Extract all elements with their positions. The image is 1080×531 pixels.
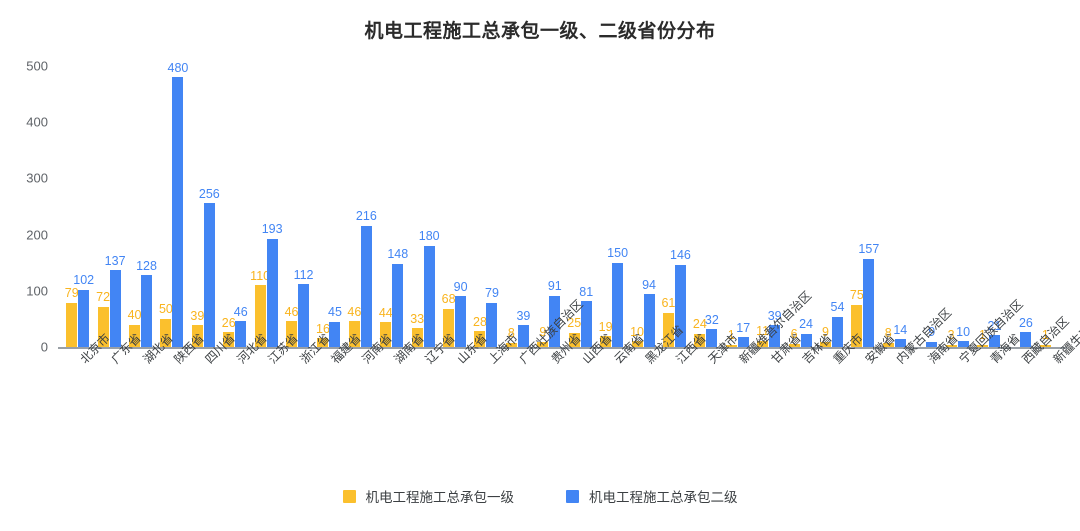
bar-value-label: 54: [831, 301, 845, 314]
bar[interactable]: 9: [820, 60, 831, 347]
bar-group: 1: [1036, 60, 1067, 347]
bar[interactable]: 79: [66, 60, 77, 347]
bar-value-label: 90: [454, 281, 468, 294]
bar[interactable]: 3: [946, 60, 957, 347]
bar[interactable]: 157: [863, 60, 874, 347]
bar-value-label: 46: [285, 306, 299, 319]
x-axis-slot: 海南省: [910, 349, 941, 479]
bar-rect: [424, 246, 435, 347]
bar-value-label: 10: [956, 326, 970, 339]
bar-value-label: 91: [548, 280, 562, 293]
bar-rect: [172, 77, 183, 347]
bar[interactable]: 50: [160, 60, 171, 347]
bar-group: 40128: [125, 60, 156, 347]
bar[interactable]: 256: [204, 60, 215, 347]
bar[interactable]: 180: [424, 60, 435, 347]
y-axis-tick-100: 100: [26, 283, 48, 298]
bar-rect: [361, 226, 372, 347]
y-axis-tick-500: 500: [26, 59, 48, 74]
x-axis-slot: 新疆生产建设兵团: [1036, 349, 1067, 479]
x-axis-slot: 河南省: [345, 349, 376, 479]
bar-value-label: 28: [473, 316, 487, 329]
bar[interactable]: 94: [644, 60, 655, 347]
bar-value-label: 480: [167, 62, 188, 75]
x-axis-slot: 天津市: [690, 349, 721, 479]
bar-value-label: 128: [136, 260, 157, 273]
bar[interactable]: 90: [455, 60, 466, 347]
bar-rect: [141, 275, 152, 347]
bar-value-label: 45: [328, 306, 342, 319]
bar-group: 2432: [690, 60, 721, 347]
bar-rect: [863, 259, 874, 347]
legend-item-series2[interactable]: 机电工程施工总承包二级: [566, 486, 738, 506]
bar[interactable]: 46: [349, 60, 360, 347]
bar-value-label: 33: [410, 313, 424, 326]
bar-group: 79102: [62, 60, 93, 347]
bar[interactable]: 39: [518, 60, 529, 347]
x-axis-slot: 广西壮族自治区: [502, 349, 533, 479]
bar-group: 9: [910, 60, 941, 347]
bar-value-label: 180: [419, 230, 440, 243]
bar-group: 6890: [439, 60, 470, 347]
bar[interactable]: 1: [726, 60, 737, 347]
bar[interactable]: 33: [412, 60, 423, 347]
x-axis-slot: 上海市: [470, 349, 501, 479]
x-axis-slot: 辽宁省: [407, 349, 438, 479]
bar-group: 46216: [345, 60, 376, 347]
x-axis-slot: 宁夏回族自治区: [941, 349, 972, 479]
bar-group: 1645: [313, 60, 344, 347]
bar[interactable]: 46: [235, 60, 246, 347]
bar-group: 814: [879, 60, 910, 347]
bar-rect: [267, 239, 278, 347]
bar[interactable]: 39: [192, 60, 203, 347]
bar[interactable]: 46: [286, 60, 297, 347]
bar[interactable]: 16: [317, 60, 328, 347]
bar[interactable]: 91: [549, 60, 560, 347]
chart-legend: 机电工程施工总承包一级 机电工程施工总承包二级: [0, 486, 1080, 506]
bar-value-label: 150: [607, 247, 628, 260]
bar-value-label: 72: [96, 291, 110, 304]
bar-group: 121: [973, 60, 1004, 347]
bar[interactable]: 32: [706, 60, 717, 347]
x-axis-slot: 北京市: [62, 349, 93, 479]
bar-group: 72137: [93, 60, 124, 347]
bar-value-label: 256: [199, 188, 220, 201]
bar-value-label: 81: [579, 286, 593, 299]
bar[interactable]: 79: [486, 60, 497, 347]
x-axis-slot: 甘肃省: [753, 349, 784, 479]
bar[interactable]: 137: [110, 60, 121, 347]
x-axis-slot: 吉林省: [784, 349, 815, 479]
bar-group: 2646: [219, 60, 250, 347]
y-axis-tick-200: 200: [26, 227, 48, 242]
x-axis-slot: 四川省: [188, 349, 219, 479]
legend-swatch-series2: [566, 490, 579, 503]
x-axis-slot: 重庆市: [816, 349, 847, 479]
y-axis-tick-400: 400: [26, 115, 48, 130]
bar-group: 19150: [596, 60, 627, 347]
bar-chart: 机电工程施工总承包一级、二级省份分布 0100200300400500 7910…: [0, 0, 1080, 531]
bar-group: 50480: [156, 60, 187, 347]
bar-group: 110193: [250, 60, 281, 347]
bar[interactable]: 72: [98, 60, 109, 347]
bar[interactable]: 17: [738, 60, 749, 347]
bar-group: 1139: [753, 60, 784, 347]
x-axis-slot: 内蒙古自治区: [879, 349, 910, 479]
bar[interactable]: 1: [977, 60, 988, 347]
bar[interactable]: 26: [223, 60, 234, 347]
bar-group: 991: [533, 60, 564, 347]
legend-item-series1[interactable]: 机电工程施工总承包一级: [343, 486, 515, 506]
legend-label-series2: 机电工程施工总承包二级: [589, 486, 738, 506]
y-axis-tick-300: 300: [26, 171, 48, 186]
bar-value-label: 102: [73, 274, 94, 287]
bar-value-label: 75: [850, 289, 864, 302]
y-axis: 0100200300400500: [0, 60, 56, 352]
x-axis-slot: 江苏省: [250, 349, 281, 479]
bar[interactable]: 128: [141, 60, 152, 347]
bar[interactable]: 28: [474, 60, 485, 347]
bar-value-label: 68: [442, 293, 456, 306]
bar[interactable]: 44: [380, 60, 391, 347]
x-axis-slot: 新疆维吾尔自治区: [722, 349, 753, 479]
bar-rect: [204, 203, 215, 347]
x-axis-slot: 山西省: [565, 349, 596, 479]
bar-group: 2879: [470, 60, 501, 347]
bar-group: 46112: [282, 60, 313, 347]
bar-value-label: 216: [356, 210, 377, 223]
bar[interactable]: 8: [883, 60, 894, 347]
bar-group: 61146: [659, 60, 690, 347]
x-axis-slot: 广东省: [93, 349, 124, 479]
x-axis-slot: 河北省: [219, 349, 250, 479]
bar[interactable]: 24: [694, 60, 705, 347]
bar-value-label: 46: [234, 306, 248, 319]
bar[interactable]: 193: [267, 60, 278, 347]
bar-value-label: 193: [262, 223, 283, 236]
bar[interactable]: 112: [298, 60, 309, 347]
x-axis-slot: 福建省: [313, 349, 344, 479]
bar[interactable]: 216: [361, 60, 372, 347]
bar-value-label: 26: [222, 317, 236, 330]
bar[interactable]: 148: [392, 60, 403, 347]
bar[interactable]: 54: [832, 60, 843, 347]
bar-rect: [298, 284, 309, 347]
x-axis-slot: 贵州省: [533, 349, 564, 479]
bar-value-label: 17: [736, 322, 750, 335]
bar-value-label: 50: [159, 303, 173, 316]
bar-value-label: 40: [128, 309, 142, 322]
bar[interactable]: 110: [255, 60, 266, 347]
bar[interactable]: 21: [989, 60, 1000, 347]
bar-value-label: 24: [799, 318, 813, 331]
bar[interactable]: 19: [600, 60, 611, 347]
legend-swatch-series1: [343, 490, 356, 503]
bar-value-label: 26: [1019, 317, 1033, 330]
chart-title: 机电工程施工总承包一级、二级省份分布: [0, 16, 1080, 43]
bar-value-label: 61: [661, 297, 675, 310]
bar[interactable]: 150: [612, 60, 623, 347]
bar-value-label: 39: [516, 310, 530, 323]
x-axis-slot: 黑龙江省: [627, 349, 658, 479]
bar-value-label: 94: [642, 279, 656, 292]
bar-group: 33180: [407, 60, 438, 347]
bar[interactable]: [914, 60, 925, 347]
x-axis-slot: 安徽省: [847, 349, 878, 479]
bar[interactable]: 102: [78, 60, 89, 347]
bar[interactable]: 45: [329, 60, 340, 347]
bar-group: 839: [502, 60, 533, 347]
bar-value-label: 14: [893, 324, 907, 337]
bar-value-label: 157: [858, 243, 879, 256]
bar-value-label: 79: [485, 287, 499, 300]
bar[interactable]: 10: [632, 60, 643, 347]
bar-value-label: 112: [294, 269, 314, 282]
x-axis-slot: 西藏自治区: [1004, 349, 1035, 479]
bar-value-label: 146: [670, 249, 691, 262]
bar-value-label: 79: [65, 287, 79, 300]
bar[interactable]: 14: [895, 60, 906, 347]
bar-value-label: 44: [379, 307, 393, 320]
x-axis-slot: 湖南省: [376, 349, 407, 479]
bar-rect: [66, 303, 77, 347]
bar-value-label: 39: [190, 310, 204, 323]
bar[interactable]: 9: [926, 60, 937, 347]
bar-group: 44148: [376, 60, 407, 347]
bar[interactable]: 480: [172, 60, 183, 347]
bar[interactable]: 8: [506, 60, 517, 347]
legend-label-series1: 机电工程施工总承包一级: [366, 486, 515, 506]
bar[interactable]: 40: [129, 60, 140, 347]
x-axis-slot: 山东省: [439, 349, 470, 479]
bar-rect: [78, 290, 89, 347]
bar-group: 75157: [847, 60, 878, 347]
bar[interactable]: [1052, 60, 1063, 347]
bar-value-label: 137: [105, 255, 126, 268]
x-axis-slot: 江西省: [659, 349, 690, 479]
y-axis-tick-0: 0: [41, 340, 48, 355]
bar[interactable]: 1: [1040, 60, 1051, 347]
x-axis-slot: 湖北省: [125, 349, 156, 479]
bar-value-label: 46: [347, 306, 361, 319]
x-axis-slot: 浙江省: [282, 349, 313, 479]
x-axis-slot: 青海省: [973, 349, 1004, 479]
x-axis: 北京市广东省湖北省陕西省四川省河北省江苏省浙江省福建省河南省湖南省辽宁省山东省上…: [62, 349, 1067, 479]
bar[interactable]: 9: [537, 60, 548, 347]
bar[interactable]: 39: [769, 60, 780, 347]
bar-value-label: 148: [387, 248, 408, 261]
bar[interactable]: 61: [663, 60, 674, 347]
bar-rect: [612, 263, 623, 347]
bar-group: 954: [816, 60, 847, 347]
bar-rect: [110, 270, 121, 347]
bar-value-label: 32: [705, 314, 719, 327]
bar[interactable]: 10: [958, 60, 969, 347]
bar-group: 117: [722, 60, 753, 347]
bar-group: 1094: [627, 60, 658, 347]
bar-group: 39256: [188, 60, 219, 347]
bar-rect: [392, 264, 403, 347]
bar[interactable]: 146: [675, 60, 686, 347]
bar[interactable]: 75: [851, 60, 862, 347]
bar[interactable]: 11: [757, 60, 768, 347]
bar-group: 310: [941, 60, 972, 347]
x-axis-slot: 陕西省: [156, 349, 187, 479]
x-axis-slot: 云南省: [596, 349, 627, 479]
bar[interactable]: 68: [443, 60, 454, 347]
